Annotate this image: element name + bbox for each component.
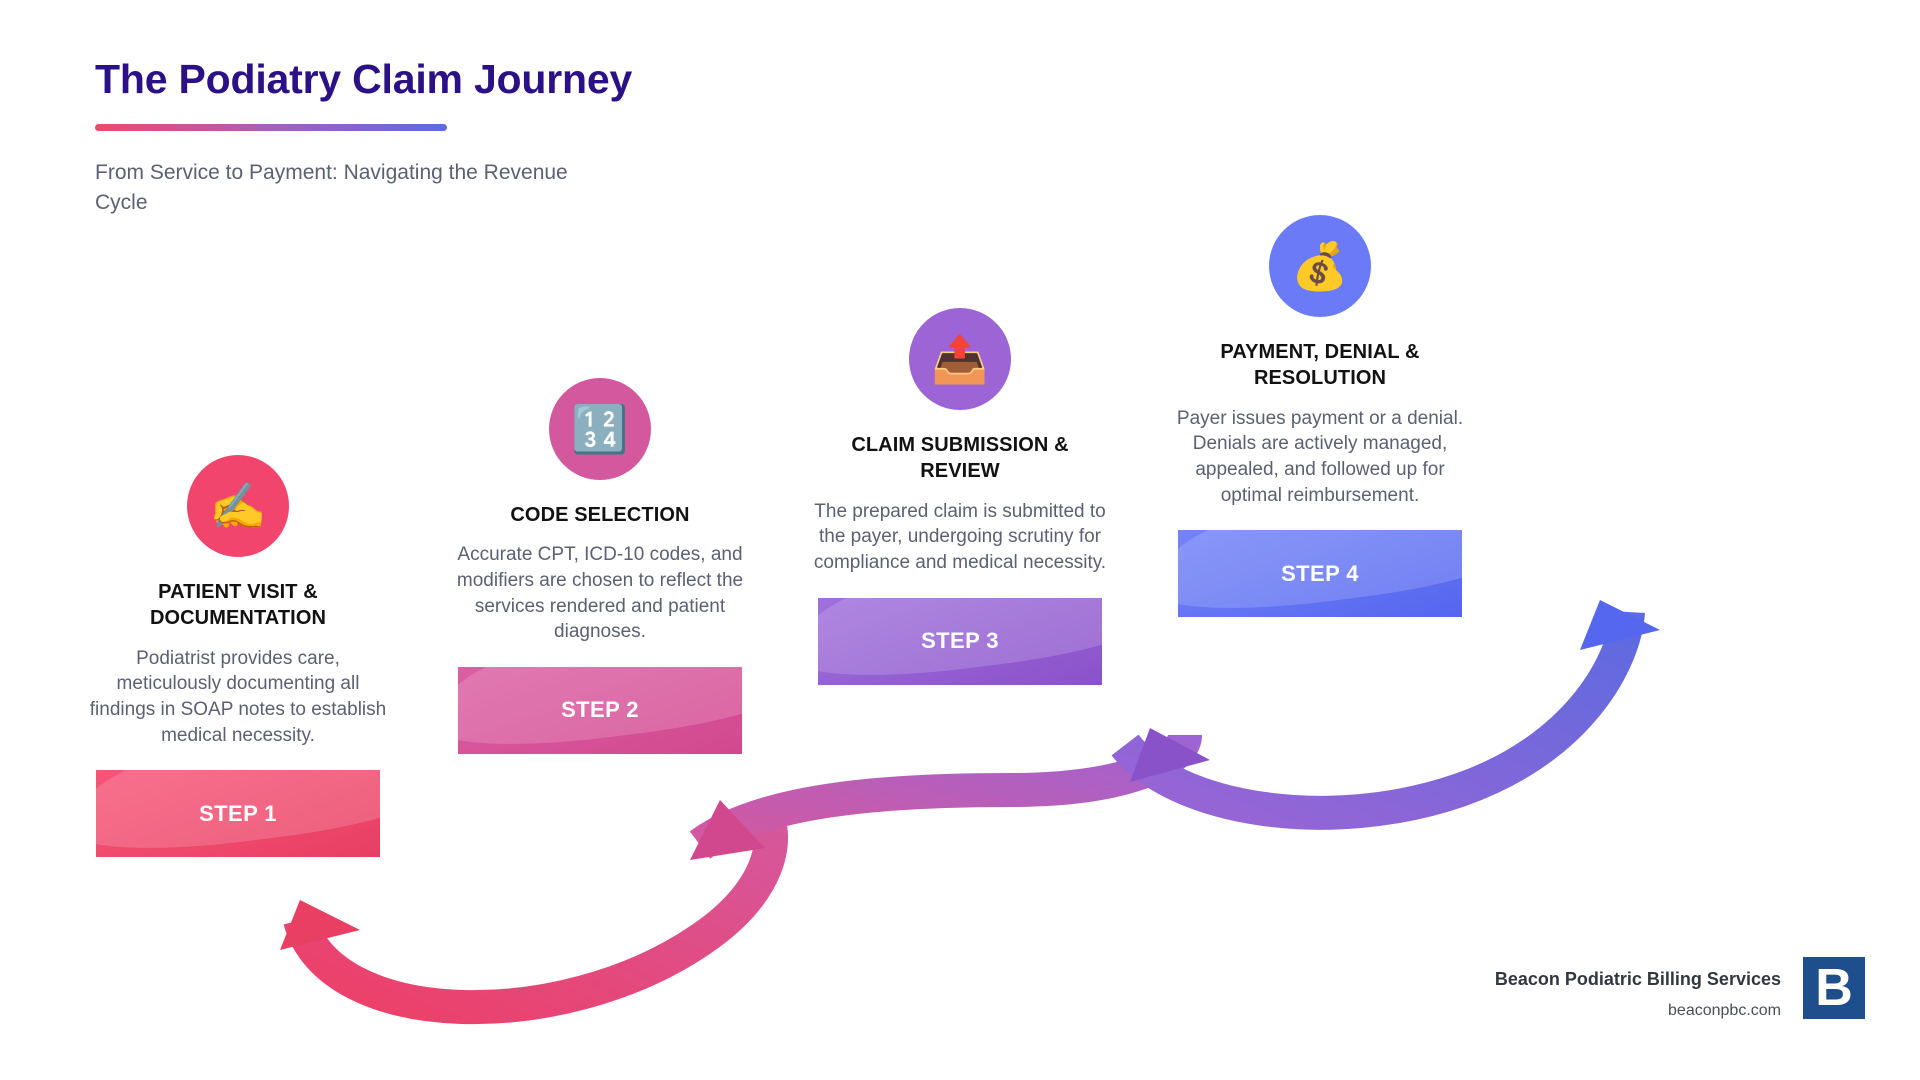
step-1-badge-label: STEP 1 — [199, 801, 277, 827]
step-2-icon-glyph: 🔢 — [571, 406, 628, 452]
brand-url[interactable]: beaconpbc.com — [1495, 1002, 1781, 1020]
step-1-banner-wrap: STEP 1 — [88, 770, 388, 857]
page-subtitle: From Service to Payment: Navigating the … — [95, 158, 585, 218]
step-1-badge: STEP 1 — [96, 770, 380, 857]
writing-hand-icon: ✍️ — [187, 455, 289, 557]
step-3-icon-glyph: 📤 — [931, 336, 988, 382]
step-2: 🔢 CODE SELECTION Accurate CPT, ICD-10 co… — [450, 378, 750, 754]
step-4-description: Payer issues payment or a denial. Denial… — [1170, 406, 1470, 509]
step-4-banner-wrap: STEP 4 — [1170, 530, 1470, 617]
money-bag-icon: 💰 — [1269, 215, 1371, 317]
step-1: ✍️ PATIENT VISIT & DOCUMENTATION Podiatr… — [88, 455, 388, 857]
step-3: 📤 CLAIM SUBMISSION & REVIEW The prepared… — [810, 308, 1110, 685]
step-1-description: Podiatrist provides care, meticulously d… — [88, 646, 388, 749]
step-3-badge: STEP 3 — [818, 598, 1102, 685]
title-divider — [95, 124, 447, 131]
step-3-banner-wrap: STEP 3 — [810, 598, 1110, 685]
brand-logo-letter: B — [1815, 962, 1853, 1014]
step-2-badge: STEP 2 — [458, 667, 742, 754]
step-1-icon-glyph: ✍️ — [209, 483, 266, 529]
step-4-badge: STEP 4 — [1178, 530, 1462, 617]
step-4-badge-label: STEP 4 — [1281, 561, 1359, 587]
brand-name: Beacon Podiatric Billing Services — [1495, 969, 1781, 990]
input-numbers-icon: 🔢 — [549, 378, 651, 480]
brand-logo: B — [1803, 957, 1865, 1019]
step-4: 💰 PAYMENT, DENIAL & RESOLUTION Payer iss… — [1170, 215, 1470, 617]
step-4-heading: PAYMENT, DENIAL & RESOLUTION — [1170, 339, 1470, 392]
step-2-heading: CODE SELECTION — [450, 502, 750, 528]
step-1-heading: PATIENT VISIT & DOCUMENTATION — [88, 579, 388, 632]
step-3-heading: CLAIM SUBMISSION & REVIEW — [810, 432, 1110, 485]
step-3-description: The prepared claim is submitted to the p… — [810, 499, 1110, 576]
step-2-description: Accurate CPT, ICD-10 codes, and modifier… — [450, 542, 750, 645]
page-title: The Podiatry Claim Journey — [95, 52, 655, 106]
header-block: The Podiatry Claim Journey From Service … — [95, 52, 655, 218]
outbox-tray-icon: 📤 — [909, 308, 1011, 410]
step-2-banner-wrap: STEP 2 — [450, 667, 750, 754]
step-4-icon-glyph: 💰 — [1291, 243, 1348, 289]
footer-text-block: Beacon Podiatric Billing Services beacon… — [1495, 957, 1781, 1020]
step-2-badge-label: STEP 2 — [561, 697, 639, 723]
infographic-canvas: The Podiatry Claim Journey From Service … — [0, 0, 1920, 1080]
step-3-badge-label: STEP 3 — [921, 628, 999, 654]
footer-branding: Beacon Podiatric Billing Services beacon… — [1495, 957, 1865, 1020]
